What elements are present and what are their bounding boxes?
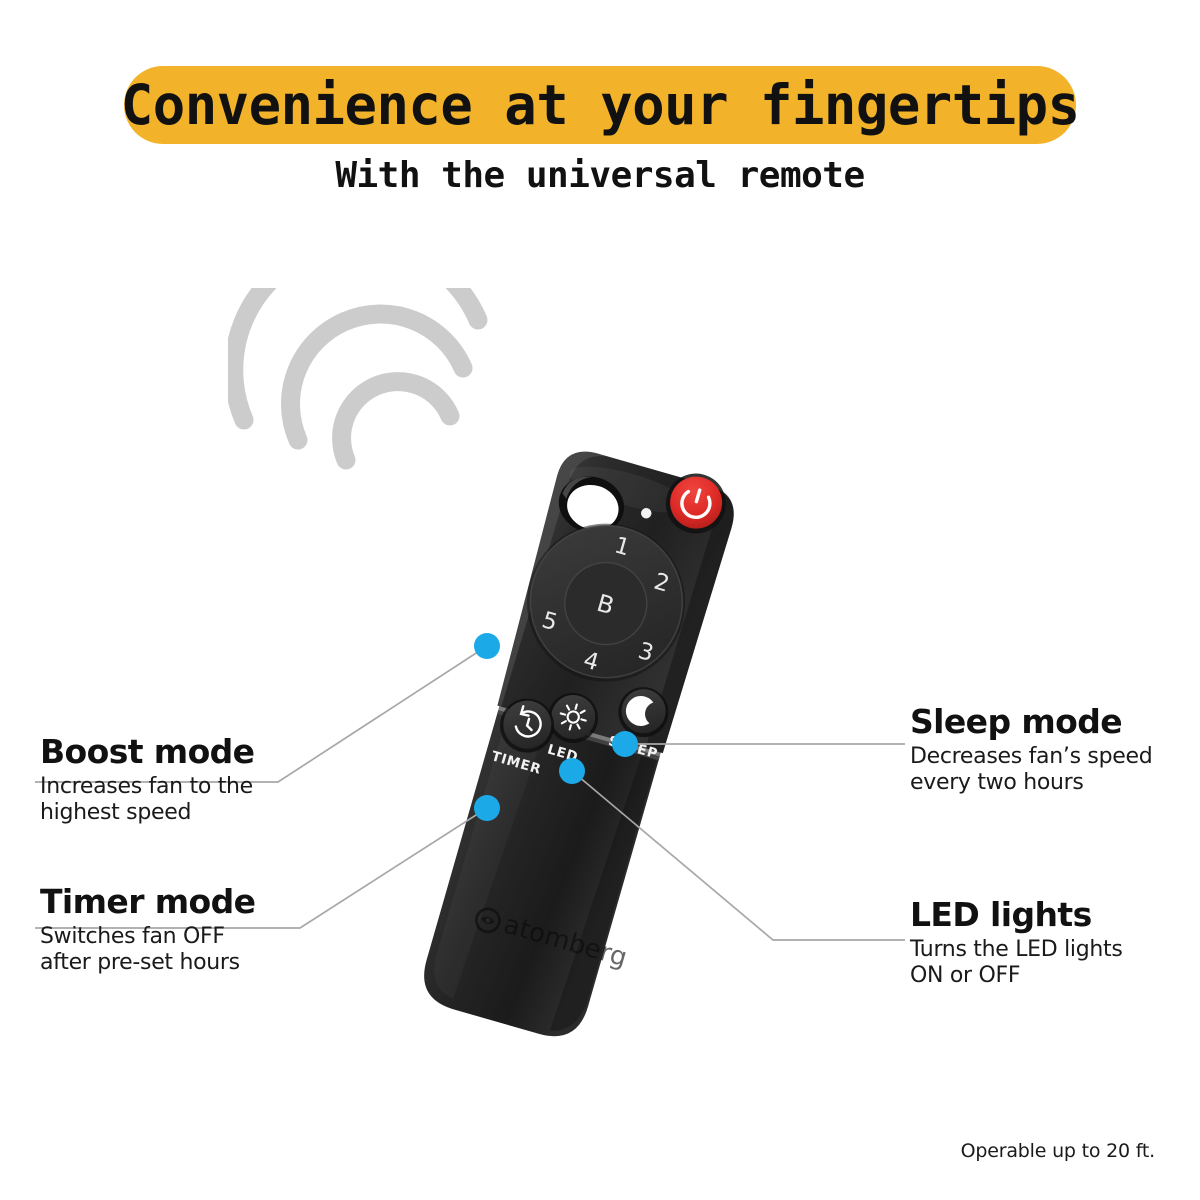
universal-remote-device: 1 2 3 4 5 B SLEEP [330, 430, 790, 1140]
callout-sleep-mode: Sleep mode Decreases fan’s speed every t… [910, 705, 1152, 797]
callout-desc-boost: Increases fan to the highest speed [40, 774, 254, 828]
callout-desc-timer: Switches fan OFF after pre-set hours [40, 924, 255, 978]
callout-timer-mode: Timer mode Switches fan OFF after pre-se… [40, 885, 255, 977]
callout-boost-mode: Boost mode Increases fan to the highest … [40, 735, 254, 827]
callout-desc-led: Turns the LED lights ON or OFF [910, 937, 1123, 991]
banner-pill: Convenience at your fingertips [124, 66, 1076, 144]
callout-title-led: LED lights [910, 898, 1123, 933]
callout-desc-sleep: Decreases fan’s speed every two hours [910, 744, 1152, 798]
callout-title-timer: Timer mode [40, 885, 255, 920]
footnote-operable-range: Operable up to 20 ft. [961, 1140, 1155, 1162]
callout-title-sleep: Sleep mode [910, 705, 1152, 740]
callout-title-boost: Boost mode [40, 735, 254, 770]
infographic-canvas: Convenience at your fingertips With the … [0, 0, 1200, 1200]
page-title: Convenience at your fingertips [121, 73, 1080, 137]
callout-led-lights: LED lights Turns the LED lights ON or OF… [910, 898, 1123, 990]
page-subtitle: With the universal remote [0, 155, 1200, 196]
